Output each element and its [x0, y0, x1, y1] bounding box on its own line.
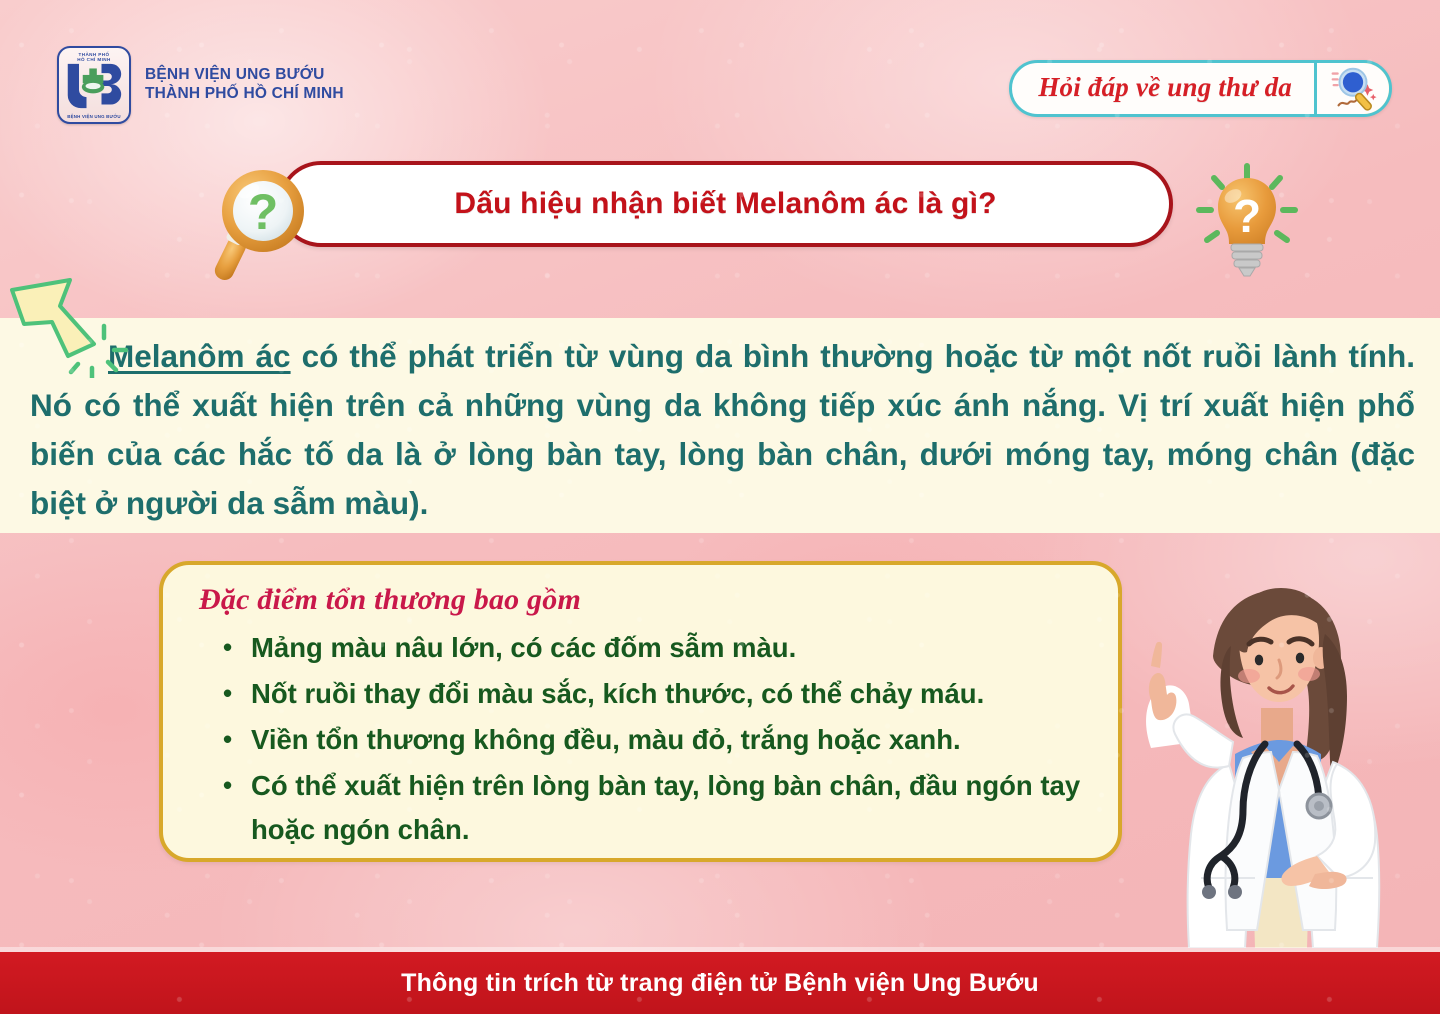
lightbulb-question-icon: ?: [1187, 160, 1307, 282]
cursor-arrow-icon: [8, 272, 128, 378]
logo-bottom-text: BỆNH VIỆN UNG BƯỚU: [59, 114, 129, 119]
org-name-line1: BỆNH VIỆN UNG BƯỚU: [145, 66, 344, 85]
hospital-logo-icon: THÀNH PHỐHỒ CHÍ MINH BỆNH VIỆN UNG: [57, 46, 131, 124]
topic-badge[interactable]: Hỏi đáp về ung thư da: [1009, 60, 1392, 117]
intro-band: Melanôm ác có thể phát triển từ vùng da …: [0, 318, 1440, 533]
logo-monogram-icon: [64, 62, 124, 110]
list-item: Viền tổn thương không đều, màu đỏ, trắng…: [211, 718, 1102, 762]
infographic-page: THÀNH PHỐHỒ CHÍ MINH BỆNH VIỆN UNG: [0, 0, 1440, 1014]
list-item: Nốt ruồi thay đổi màu sắc, kích thước, c…: [211, 672, 1102, 716]
page-title: Dấu hiệu nhận biết Melanôm ác là gì?: [454, 187, 996, 221]
intro-highlight: Melanôm ác: [108, 338, 291, 374]
org-name-line2: THÀNH PHỐ HỒ CHÍ MINH: [145, 85, 344, 104]
features-heading: Đặc điểm tổn thương bao gồm: [199, 583, 581, 617]
intro-paragraph: Melanôm ác có thể phát triển từ vùng da …: [30, 332, 1415, 528]
female-doctor-illustration: [1093, 548, 1440, 948]
features-card: Đặc điểm tổn thương bao gồm Mảng màu nâu…: [159, 561, 1122, 862]
footer-text: Thông tin trích từ trang điện tử Bệnh vi…: [401, 969, 1039, 998]
features-list: Mảng màu nâu lớn, có các đốm sẫm màu. Nố…: [211, 626, 1102, 854]
org-name: BỆNH VIỆN UNG BƯỚU THÀNH PHỐ HỒ CHÍ MINH: [145, 66, 344, 104]
footer: Thông tin trích từ trang điện tử Bệnh vi…: [0, 952, 1440, 1014]
magnifier-question-icon: ?: [208, 163, 320, 283]
list-item: Có thể xuất hiện trên lòng bàn tay, lòng…: [211, 764, 1102, 852]
question-banner: Dấu hiệu nhận biết Melanôm ác là gì?: [278, 161, 1173, 247]
list-item: Mảng màu nâu lớn, có các đốm sẫm màu.: [211, 626, 1102, 670]
hospital-branding: THÀNH PHỐHỒ CHÍ MINH BỆNH VIỆN UNG: [57, 46, 344, 124]
topic-badge-label: Hỏi đáp về ung thư da: [1012, 63, 1314, 114]
header: THÀNH PHỐHỒ CHÍ MINH BỆNH VIỆN UNG: [0, 0, 1440, 140]
svg-text:?: ?: [1233, 190, 1261, 242]
topic-badge-accent-ring: [1334, 60, 1392, 117]
